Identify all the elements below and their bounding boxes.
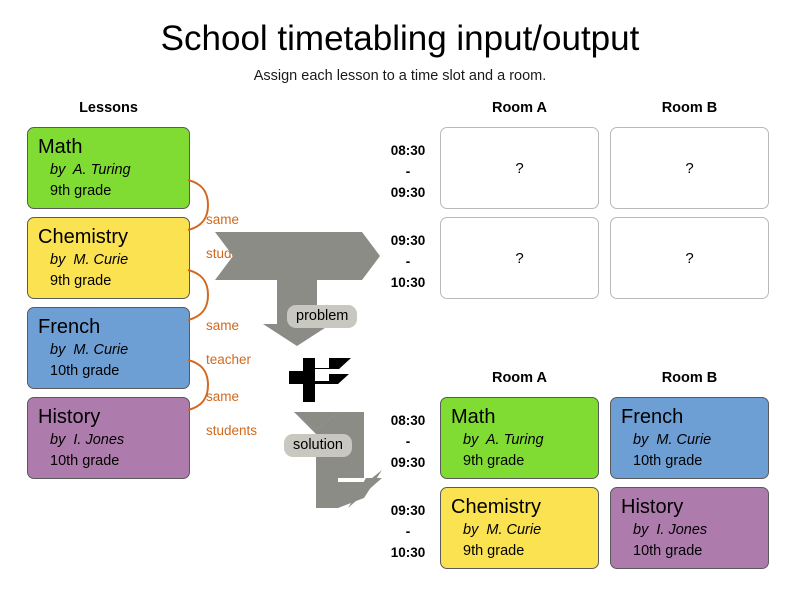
lesson-grade: 9th grade	[38, 181, 179, 202]
time-end: 10:30	[376, 272, 440, 293]
by-word: by	[463, 522, 478, 538]
lesson-subject: History	[38, 405, 179, 430]
input-slot-row1-room-a[interactable]: ?	[440, 217, 599, 299]
lesson-teacher: by A. Turing	[38, 160, 179, 181]
by-word: by	[50, 162, 65, 178]
lesson-subject: Math	[451, 405, 588, 430]
lesson-grade: 9th grade	[38, 271, 179, 292]
lesson-grade: 10th grade	[621, 541, 758, 562]
brace-label-same-students-2: same students	[206, 371, 257, 439]
lesson-card-chemistry[interactable]: Chemistry by M. Curie 9th grade	[27, 217, 190, 299]
teacher-name: M. Curie	[486, 522, 541, 538]
teacher-name: A. Turing	[73, 162, 131, 178]
teacher-name: M. Curie	[73, 342, 128, 358]
lesson-subject: French	[621, 405, 758, 430]
lessons-heading: Lessons	[27, 100, 190, 116]
lesson-card-history[interactable]: History by I. Jones 10th grade	[27, 397, 190, 479]
time-end: 10:30	[376, 542, 440, 563]
input-slot-row1-room-b[interactable]: ?	[610, 217, 769, 299]
lesson-card-french[interactable]: French by M. Curie 10th grade	[27, 307, 190, 389]
lesson-teacher: by M. Curie	[451, 520, 588, 541]
by-word: by	[50, 252, 65, 268]
brace-line-2: students	[206, 423, 257, 438]
lesson-teacher: by I. Jones	[621, 520, 758, 541]
lesson-subject: French	[38, 315, 179, 340]
by-word: by	[633, 522, 648, 538]
teacher-name: M. Curie	[656, 432, 711, 448]
lesson-grade: 9th grade	[451, 541, 588, 562]
lesson-subject: Chemistry	[451, 495, 588, 520]
timefold-logo	[289, 358, 353, 402]
lesson-subject: Math	[38, 135, 179, 160]
output-slot-row0-room-a[interactable]: Math by A. Turing 9th grade	[440, 397, 599, 479]
time-dash: -	[376, 251, 440, 272]
by-word: by	[50, 342, 65, 358]
lesson-card-math[interactable]: Math by A. Turing 9th grade	[27, 127, 190, 209]
time-dash: -	[376, 521, 440, 542]
lesson-teacher: by M. Curie	[38, 250, 179, 271]
teacher-name: I. Jones	[656, 522, 707, 538]
input-column-header-room-a: Room A	[440, 100, 599, 116]
page-title: School timetabling input/output	[0, 18, 800, 60]
lesson-subject: History	[621, 495, 758, 520]
solution-arrow	[272, 412, 382, 508]
lesson-grade: 10th grade	[621, 451, 758, 472]
lesson-teacher: by A. Turing	[451, 430, 588, 451]
by-word: by	[463, 432, 478, 448]
brace-line-1: same	[206, 389, 239, 404]
time-start: 09:30	[376, 230, 440, 251]
lesson-teacher: by M. Curie	[621, 430, 758, 451]
teacher-name: I. Jones	[73, 432, 124, 448]
input-column-header-room-b: Room B	[610, 100, 769, 116]
lesson-teacher: by M. Curie	[38, 340, 179, 361]
output-time-label-row-1: 09:30 - 10:30	[376, 500, 440, 563]
lesson-teacher: by I. Jones	[38, 430, 179, 451]
time-dash: -	[376, 431, 440, 452]
problem-badge: problem	[287, 305, 357, 328]
page-subtitle: Assign each lesson to a time slot and a …	[0, 68, 800, 84]
output-slot-row1-room-b[interactable]: History by I. Jones 10th grade	[610, 487, 769, 569]
lesson-grade: 9th grade	[451, 451, 588, 472]
time-dash: -	[376, 161, 440, 182]
lesson-subject: Chemistry	[38, 225, 179, 250]
output-column-header-room-b: Room B	[610, 370, 769, 386]
output-slot-row0-room-b[interactable]: French by M. Curie 10th grade	[610, 397, 769, 479]
lesson-grade: 10th grade	[38, 451, 179, 472]
teacher-name: M. Curie	[73, 252, 128, 268]
brace-line-2: teacher	[206, 352, 251, 367]
by-word: by	[633, 432, 648, 448]
output-slot-row1-room-a[interactable]: Chemistry by M. Curie 9th grade	[440, 487, 599, 569]
time-start: 08:30	[376, 410, 440, 431]
time-start: 09:30	[376, 500, 440, 521]
output-column-header-room-a: Room A	[440, 370, 599, 386]
diagram-canvas: School timetabling input/output Assign e…	[0, 0, 800, 600]
input-time-label-row-1: 09:30 - 10:30	[376, 230, 440, 293]
time-end: 09:30	[376, 182, 440, 203]
teacher-name: A. Turing	[486, 432, 544, 448]
input-slot-row0-room-b[interactable]: ?	[610, 127, 769, 209]
by-word: by	[50, 432, 65, 448]
output-time-label-row-0: 08:30 - 09:30	[376, 410, 440, 473]
input-slot-row0-room-a[interactable]: ?	[440, 127, 599, 209]
input-time-label-row-0: 08:30 - 09:30	[376, 140, 440, 203]
lesson-grade: 10th grade	[38, 361, 179, 382]
brace-line-1: same	[206, 212, 239, 227]
problem-arrow	[215, 228, 380, 346]
time-end: 09:30	[376, 452, 440, 473]
solution-badge: solution	[284, 434, 352, 457]
time-start: 08:30	[376, 140, 440, 161]
